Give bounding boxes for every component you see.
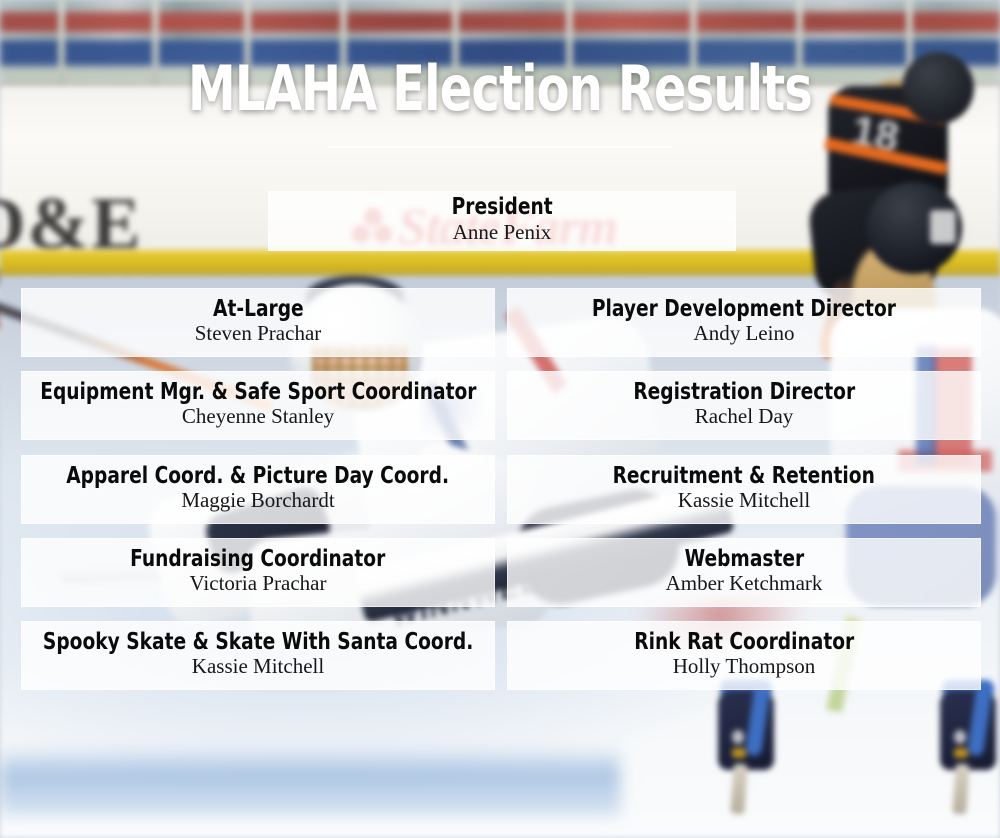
position-role: Webmaster: [684, 548, 804, 571]
position-role: Fundraising Coordinator: [130, 548, 385, 571]
position-role: Equipment Mgr. & Safe Sport Coordinator: [40, 381, 476, 404]
position-card-recruitment-retention: Recruitment & Retention Kassie Mitchell: [507, 455, 981, 524]
position-person: Kassie Mitchell: [192, 655, 324, 678]
position-person: Andy Leino: [694, 322, 795, 345]
position-person: Maggie Borchardt: [181, 489, 334, 512]
page-title: MLAHA Election Results: [70, 56, 930, 121]
title-divider: [328, 146, 672, 148]
position-card-registration: Registration Director Rachel Day: [507, 371, 981, 440]
position-card-spooky-skate-santa: Spooky Skate & Skate With Santa Coord. K…: [21, 621, 495, 690]
position-role: Apparel Coord. & Picture Day Coord.: [67, 465, 450, 488]
position-person: Victoria Prachar: [190, 572, 327, 595]
position-card-at-large: At-Large Steven Prachar: [21, 288, 495, 357]
position-role: Registration Director: [633, 381, 855, 404]
position-role: Rink Rat Coordinator: [634, 631, 854, 654]
position-card-webmaster: Webmaster Amber Ketchmark: [507, 538, 981, 607]
position-role: At-Large: [213, 298, 304, 321]
position-role: Player Development Director: [592, 298, 896, 321]
position-person: Cheyenne Stanley: [182, 405, 334, 428]
position-card-president: President Anne Penix: [268, 191, 736, 251]
position-card-rink-rat: Rink Rat Coordinator Holly Thompson: [507, 621, 981, 690]
position-card-player-development: Player Development Director Andy Leino: [507, 288, 981, 357]
position-role: President: [451, 196, 552, 219]
position-person: Rachel Day: [695, 405, 794, 428]
position-person: Kassie Mitchell: [678, 489, 810, 512]
position-person: Holly Thompson: [673, 655, 816, 678]
position-card-equipment-safe-sport: Equipment Mgr. & Safe Sport Coordinator …: [21, 371, 495, 440]
position-card-apparel-picture-day: Apparel Coord. & Picture Day Coord. Magg…: [21, 455, 495, 524]
position-person: Steven Prachar: [195, 322, 322, 345]
position-person: Amber Ketchmark: [666, 572, 823, 595]
poster-content: MLAHA Election Results President Anne Pe…: [0, 0, 1000, 838]
position-role: Spooky Skate & Skate With Santa Coord.: [43, 631, 473, 654]
position-card-fundraising: Fundraising Coordinator Victoria Prachar: [21, 538, 495, 607]
position-person: Anne Penix: [453, 221, 552, 244]
position-role: Recruitment & Retention: [613, 465, 875, 488]
